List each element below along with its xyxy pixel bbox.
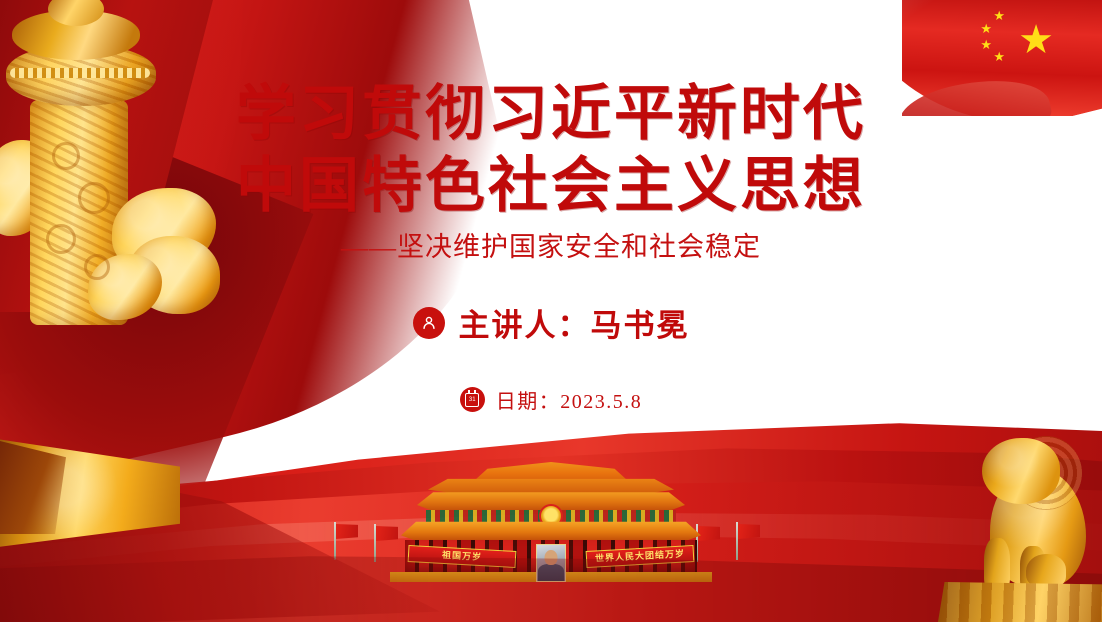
flag-cloth-small [336, 524, 358, 539]
flag-cloth-small [738, 524, 760, 539]
mini-flag [736, 522, 762, 560]
page-subtitle: ——坚决维护国家安全和社会稳定 [0, 230, 1102, 264]
presentation-title-slide: ★ ★ ★ ★ ★ [0, 0, 1102, 622]
stone-carving-left [0, 438, 180, 548]
lion-mane [1010, 436, 1082, 510]
pillar-finial [48, 0, 104, 26]
lion-front-leg-right [1020, 546, 1046, 592]
flag-star-small-1: ★ [993, 9, 1005, 22]
flag-pole [334, 522, 336, 560]
pillar-cap-top [12, 10, 140, 60]
red-silk-left-fold [0, 400, 440, 622]
portrait-suit [538, 564, 564, 581]
lion-front-leg-left [984, 538, 1010, 592]
presenter-row: 主讲人：马书冕 [0, 300, 1102, 345]
stone-carving-left-shadow [0, 438, 66, 534]
page-title-line-2: 中国特色社会主义思想 [0, 150, 1102, 222]
flag-star-small-3: ★ [980, 38, 992, 51]
tiananmen-gate: 祖国万岁 世界人民大团结万岁 [386, 462, 716, 580]
flag-star-small-4: ★ [993, 50, 1005, 63]
mini-flag [334, 522, 360, 560]
portrait-face [545, 550, 558, 565]
calendar-day-number: 31 [465, 393, 479, 407]
leader-portrait [536, 544, 566, 582]
gate-eave-lower [401, 520, 701, 542]
calendar-icon: 31 [460, 387, 485, 412]
flag-pole [374, 524, 376, 562]
guardian-lion [932, 432, 1102, 622]
date-row: 31 日期：2023.5.8 [0, 385, 1102, 414]
flag-star-large: ★ [1018, 20, 1054, 60]
person-icon [413, 307, 445, 339]
flag-star-small-2: ★ [980, 22, 992, 35]
title-block: 学习贯彻习近平新时代 中国特色社会主义思想 ——坚决维护国家安全和社会稳定 主讲… [0, 78, 1102, 414]
lion-head [982, 438, 1060, 504]
page-title-line-1: 学习贯彻习近平新时代 [0, 78, 1102, 150]
presenter-label: 主讲人：马书冕 [459, 300, 690, 345]
lion-body [990, 468, 1086, 586]
date-label: 日期：2023.5.8 [496, 385, 643, 414]
lion-pedestal [938, 582, 1102, 622]
lion-cub [1026, 554, 1066, 588]
flag-pole [736, 522, 738, 560]
pillar-bead-row [10, 68, 150, 78]
